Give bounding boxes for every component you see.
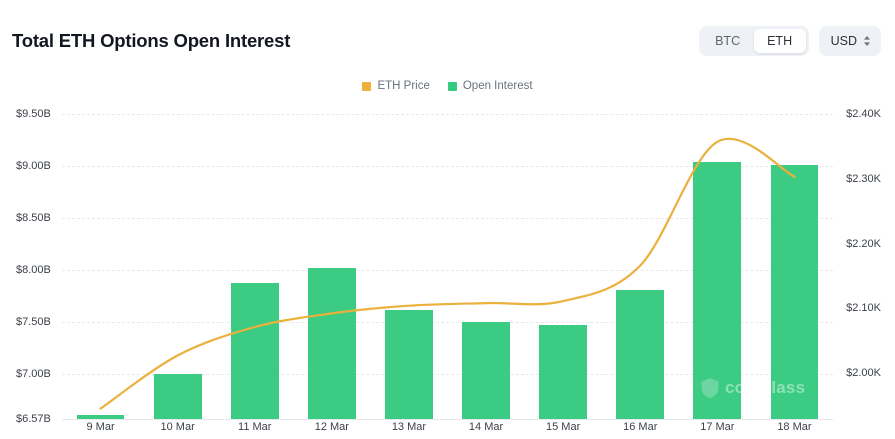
chart-widget: Total ETH Options Open Interest BTC ETH … [0, 0, 895, 439]
x-axis-tick-label: 16 Mar [623, 421, 657, 433]
y-axis-left-tick-label: $7.50B [16, 316, 51, 328]
bar[interactable] [693, 162, 741, 419]
bar[interactable] [616, 290, 664, 419]
x-axis-tick-label: 9 Mar [86, 421, 114, 433]
x-axis-tick-label: 13 Mar [392, 421, 426, 433]
bar[interactable] [462, 322, 510, 419]
y-axis-right-tick-label: $2.40K [846, 108, 881, 120]
x-axis-tick-label: 12 Mar [315, 421, 349, 433]
bar[interactable] [231, 283, 279, 419]
x-axis-tick-label: 15 Mar [546, 421, 580, 433]
bar-series [62, 0, 833, 439]
x-axis-tick-label: 11 Mar [238, 421, 271, 433]
y-axis-left-tick-label: $9.00B [16, 160, 51, 172]
x-axis-tick-label: 17 Mar [700, 421, 734, 433]
y-axis-right-tick-label: $2.10K [846, 302, 881, 314]
bar[interactable] [154, 374, 202, 419]
bar[interactable] [539, 325, 587, 419]
y-axis-left-tick-label: $7.00B [16, 368, 51, 380]
bar[interactable] [385, 310, 433, 419]
y-axis-left-tick-label: $6.57B [16, 413, 51, 425]
y-axis-left-tick-label: $8.00B [16, 264, 51, 276]
y-axis-right-tick-label: $2.00K [846, 367, 881, 379]
y-axis-left-tick-label: $8.50B [16, 212, 51, 224]
x-axis-tick-label: 10 Mar [161, 421, 195, 433]
bar[interactable] [77, 415, 125, 419]
x-axis-tick-label: 14 Mar [469, 421, 503, 433]
bar[interactable] [771, 165, 819, 419]
y-axis-left-tick-label: $9.50B [16, 108, 51, 120]
bar[interactable] [308, 268, 356, 419]
chart-plot-area: $6.57B$7.00B$7.50B$8.00B$8.50B$9.00B$9.5… [0, 0, 895, 439]
y-axis-right-tick-label: $2.30K [846, 173, 881, 185]
x-axis-tick-label: 18 Mar [777, 421, 811, 433]
y-axis-right-tick-label: $2.20K [846, 238, 881, 250]
